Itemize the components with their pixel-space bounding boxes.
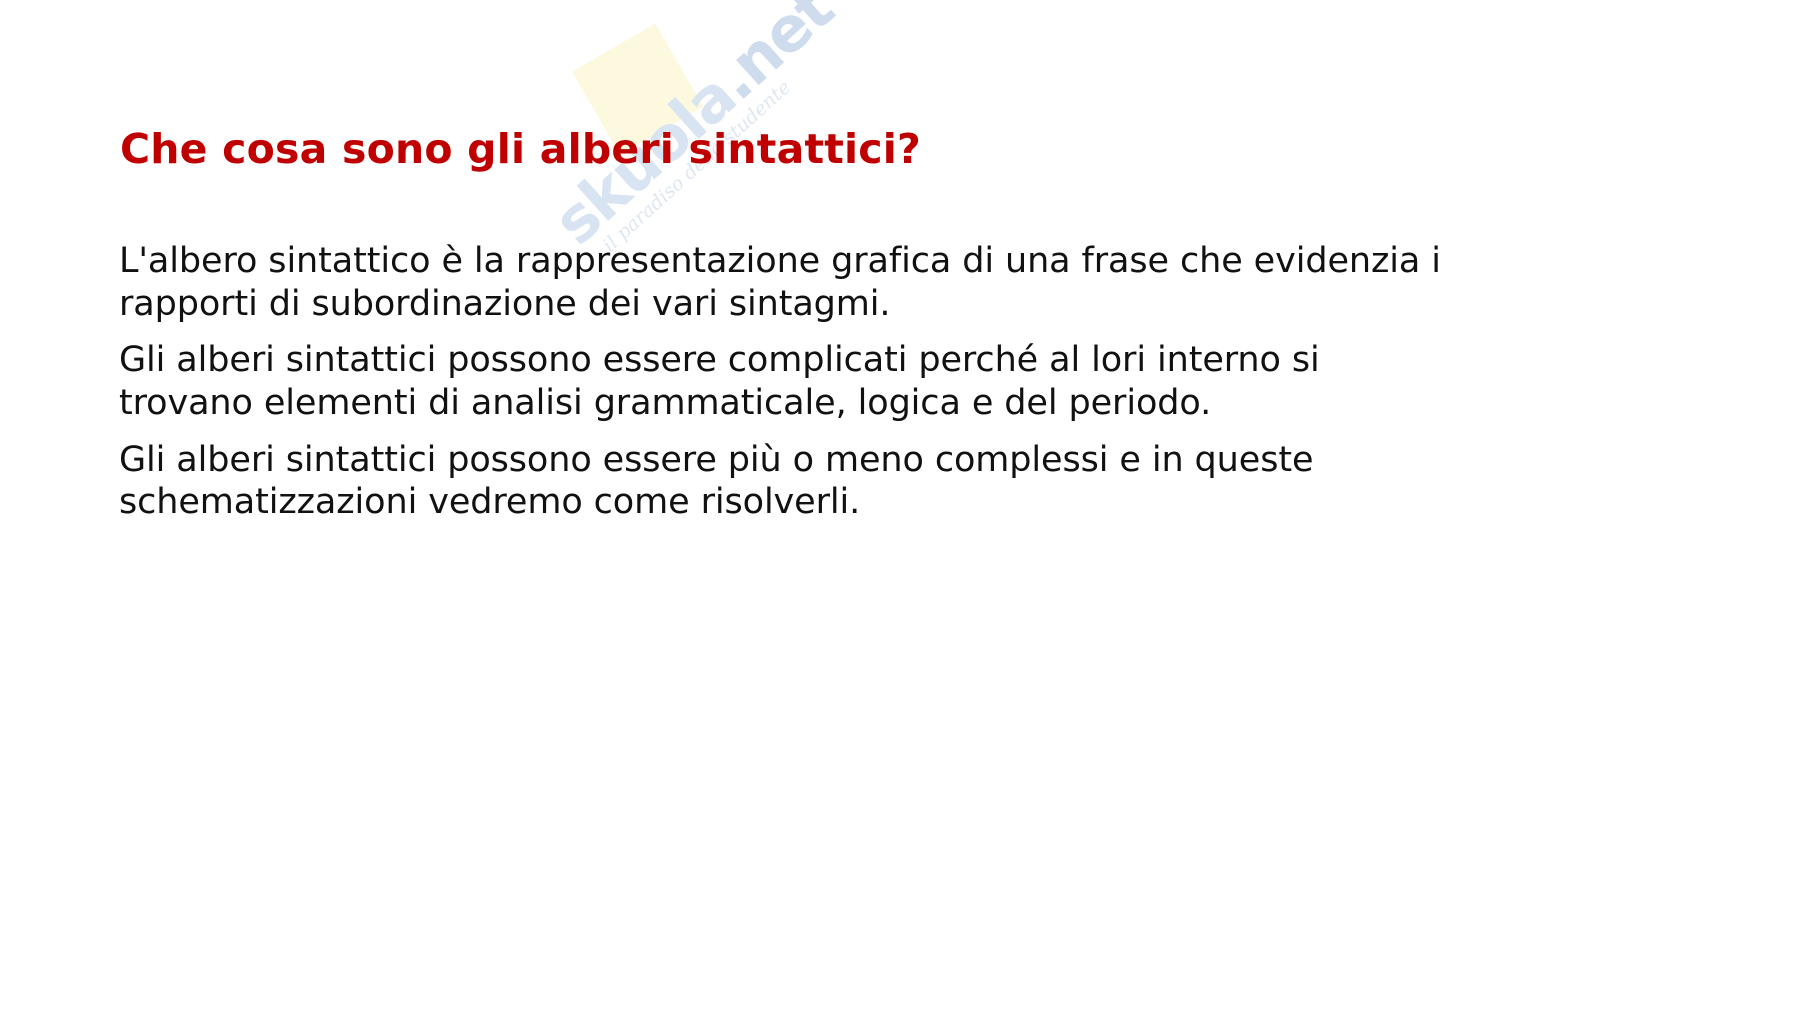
body-text-block: L'albero sintattico è la rappresentazion… [119,240,1449,524]
paragraph-1: L'albero sintattico è la rappresentazion… [119,240,1449,325]
slide-content: Che cosa sono gli alberi sintattici? L'a… [0,0,1800,1013]
slide-canvas: skuola.net il paradiso dello studente Ch… [0,0,1800,1013]
paragraph-2: Gli alberi sintattici possono essere com… [119,339,1449,424]
paragraph-3: Gli alberi sintattici possono essere più… [119,439,1449,524]
page-title: Che cosa sono gli alberi sintattici? [120,127,921,172]
